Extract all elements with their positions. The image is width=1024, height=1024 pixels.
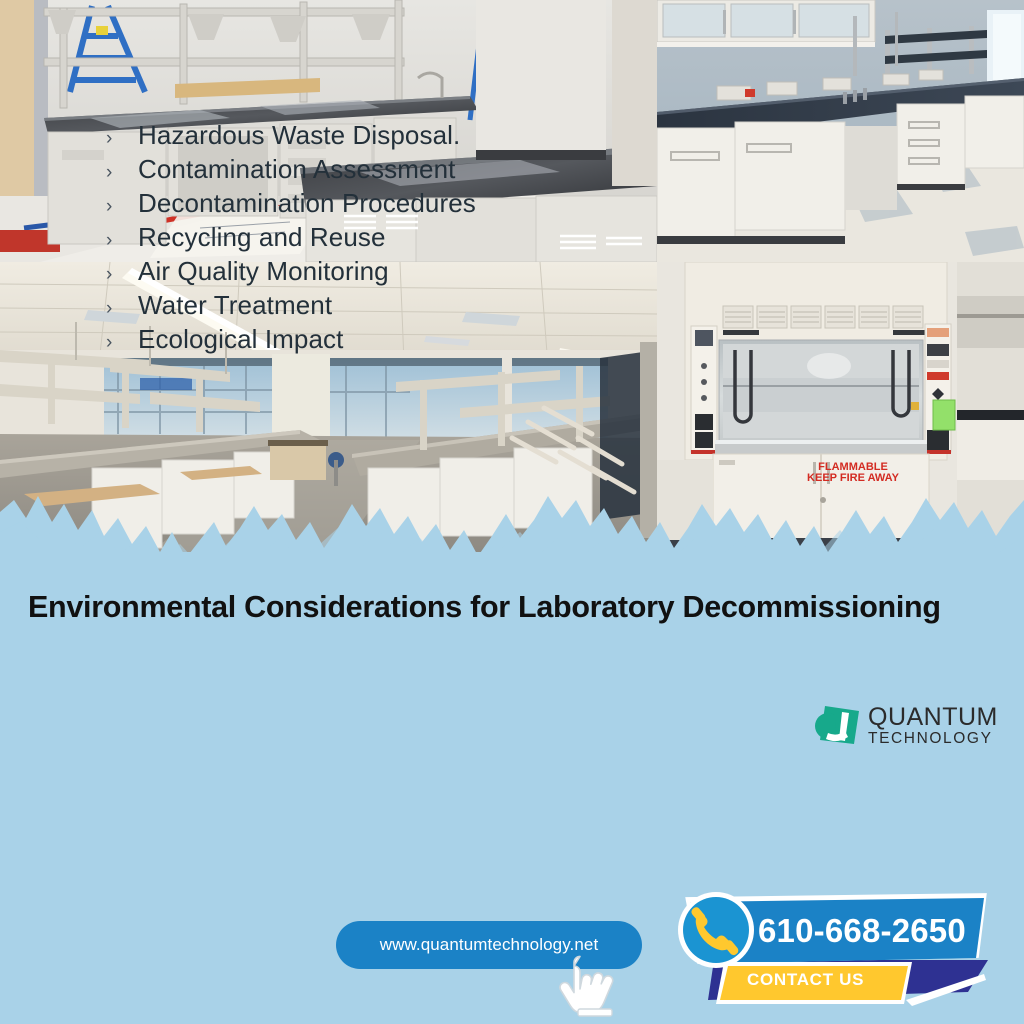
list-item[interactable]: › Hazardous Waste Disposal. <box>106 118 476 152</box>
chevron-right-icon: › <box>106 264 138 286</box>
contact-badge[interactable]: 610-668-2650 CONTACT US <box>668 888 1016 1014</box>
contact-us-label: CONTACT US <box>747 970 864 990</box>
brand-logo[interactable]: QUANTUM TECHNOLOGY <box>812 700 1012 752</box>
quantum-q-mark-icon <box>812 703 862 749</box>
website-button[interactable]: www.quantumtechnology.net <box>336 921 642 969</box>
photo-chemical-fume-hood: FLAMMABLE KEEP FIRE AWAY <box>657 262 1024 552</box>
brand-logo-text: QUANTUM TECHNOLOGY <box>868 705 998 747</box>
brand-name-secondary: TECHNOLOGY <box>868 731 998 747</box>
list-item[interactable]: › Recycling and Reuse <box>106 220 476 254</box>
chevron-right-icon: › <box>106 196 138 218</box>
list-item[interactable]: › Decontamination Procedures <box>106 186 476 220</box>
chevron-right-icon: › <box>106 230 138 252</box>
photo-clean-lab-bench-run <box>657 0 1024 262</box>
list-item-label: Recycling and Reuse <box>138 220 386 254</box>
poster-canvas: FLAMMABLE KEEP FIRE AWAY Environmental C… <box>0 0 1024 1024</box>
phone-number: 610-668-2650 <box>758 912 966 950</box>
feature-list: › Hazardous Waste Disposal. › Contaminat… <box>106 118 476 356</box>
chevron-right-icon: › <box>106 162 138 184</box>
chevron-right-icon: › <box>106 128 138 150</box>
list-item-label: Water Treatment <box>138 288 332 322</box>
list-item-label: Hazardous Waste Disposal. <box>138 118 460 152</box>
website-url-label: www.quantumtechnology.net <box>380 935 599 955</box>
list-item[interactable]: › Air Quality Monitoring <box>106 254 476 288</box>
list-item-label: Decontamination Procedures <box>138 186 476 220</box>
chevron-right-icon: › <box>106 298 138 320</box>
brand-name-primary: QUANTUM <box>868 705 998 730</box>
list-item[interactable]: › Water Treatment <box>106 288 476 322</box>
chevron-right-icon: › <box>106 332 138 354</box>
list-item-label: Air Quality Monitoring <box>138 254 389 288</box>
list-item[interactable]: › Contamination Assessment <box>106 152 476 186</box>
svg-text:KEEP FIRE AWAY: KEEP FIRE AWAY <box>807 472 900 484</box>
list-item-label: Contamination Assessment <box>138 152 455 186</box>
list-item-label: Ecological Impact <box>138 322 343 356</box>
list-item[interactable]: › Ecological Impact <box>106 322 476 356</box>
page-title: Environmental Considerations for Laborat… <box>28 590 1008 625</box>
